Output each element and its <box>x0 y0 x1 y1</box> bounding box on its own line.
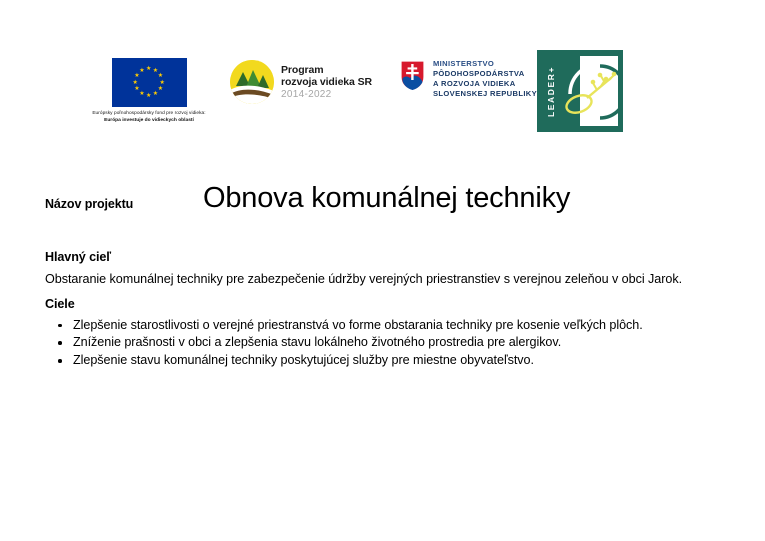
leader-wordmark: LEADER+ <box>544 59 558 123</box>
prv-logo: Program rozvoja vidieka SR 2014-2022 <box>230 60 372 104</box>
eu-caption-line1: Európsky poľnohospodársky fond pre rozvo… <box>51 110 246 116</box>
prv-wordmark: Program rozvoja vidieka SR 2014-2022 <box>281 64 372 101</box>
goals-list: Zlepšenie starostlivosti o verejné pries… <box>45 317 717 369</box>
project-title-label: Názov projektu <box>45 197 133 211</box>
eu-flag-icon <box>112 58 187 107</box>
ministry-line4: SLOVENSKEJ REPUBLIKY <box>433 89 537 99</box>
ministry-line3: A ROZVOJA VIDIEKA <box>433 79 537 89</box>
page-title: Obnova komunálnej techniky <box>203 182 570 215</box>
ministry-logo: MINISTERSTVO PÔDOHOSPODÁRSTVA A ROZVOJA … <box>400 58 537 99</box>
main-goal-heading: Hlavný cieľ <box>45 250 717 264</box>
slovak-coat-of-arms-icon <box>400 60 425 91</box>
list-item: Zníženie prašnosti v obci a zlepšenia st… <box>73 334 717 351</box>
logo-bar: Európsky poľnohospodársky fond pre rozvo… <box>0 50 765 142</box>
prv-line3: 2014-2022 <box>281 89 372 101</box>
eu-funding-logo: Európsky poľnohospodársky fond pre rozvo… <box>75 58 223 122</box>
list-item: Zlepšenie stavu komunálnej techniky posk… <box>73 352 717 369</box>
list-item: Zlepšenie starostlivosti o verejné pries… <box>73 317 717 334</box>
prv-rural-landscape-icon <box>230 60 274 104</box>
prv-line2: rozvoja vidieka SR <box>281 76 372 88</box>
ministry-line2: PÔDOHOSPODÁRSTVA <box>433 69 537 79</box>
main-goal-text: Obstaranie komunálnej techniky pre zabez… <box>45 271 717 288</box>
document-body: Hlavný cieľ Obstaranie komunálnej techni… <box>45 250 717 370</box>
eu-caption-line2: Európa investuje do vidieckych oblastí <box>51 117 246 123</box>
ministry-wordmark: MINISTERSTVO PÔDOHOSPODÁRSTVA A ROZVOJA … <box>433 58 537 99</box>
goals-heading: Ciele <box>45 297 717 311</box>
eu-caption: Európsky poľnohospodársky fond pre rozvo… <box>75 110 223 122</box>
project-title-row: Názov projektu Obnova komunálnej technik… <box>0 182 765 222</box>
ministry-line1: MINISTERSTVO <box>433 59 537 69</box>
prv-line1: Program <box>281 64 372 76</box>
leader-plus-logo-icon: LEADER+ <box>537 50 623 132</box>
